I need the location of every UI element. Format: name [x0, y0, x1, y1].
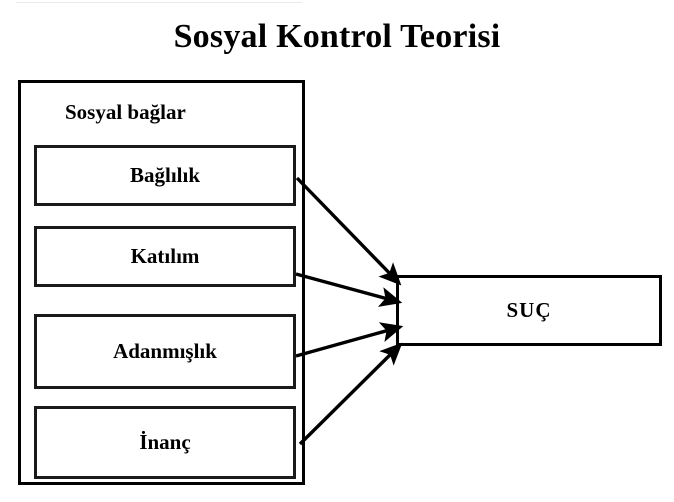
diagram-canvas: Sosyal Kontrol Teorisi Sosyal bağlar Bağ… [0, 0, 674, 502]
arrow-katilim-to-suc [296, 274, 399, 302]
arrow-baglilik-to-suc [297, 178, 399, 283]
arrow-layer [0, 0, 674, 502]
arrow-adanmislik-to-suc [296, 327, 400, 356]
arrow-inanc-to-suc [300, 345, 400, 444]
